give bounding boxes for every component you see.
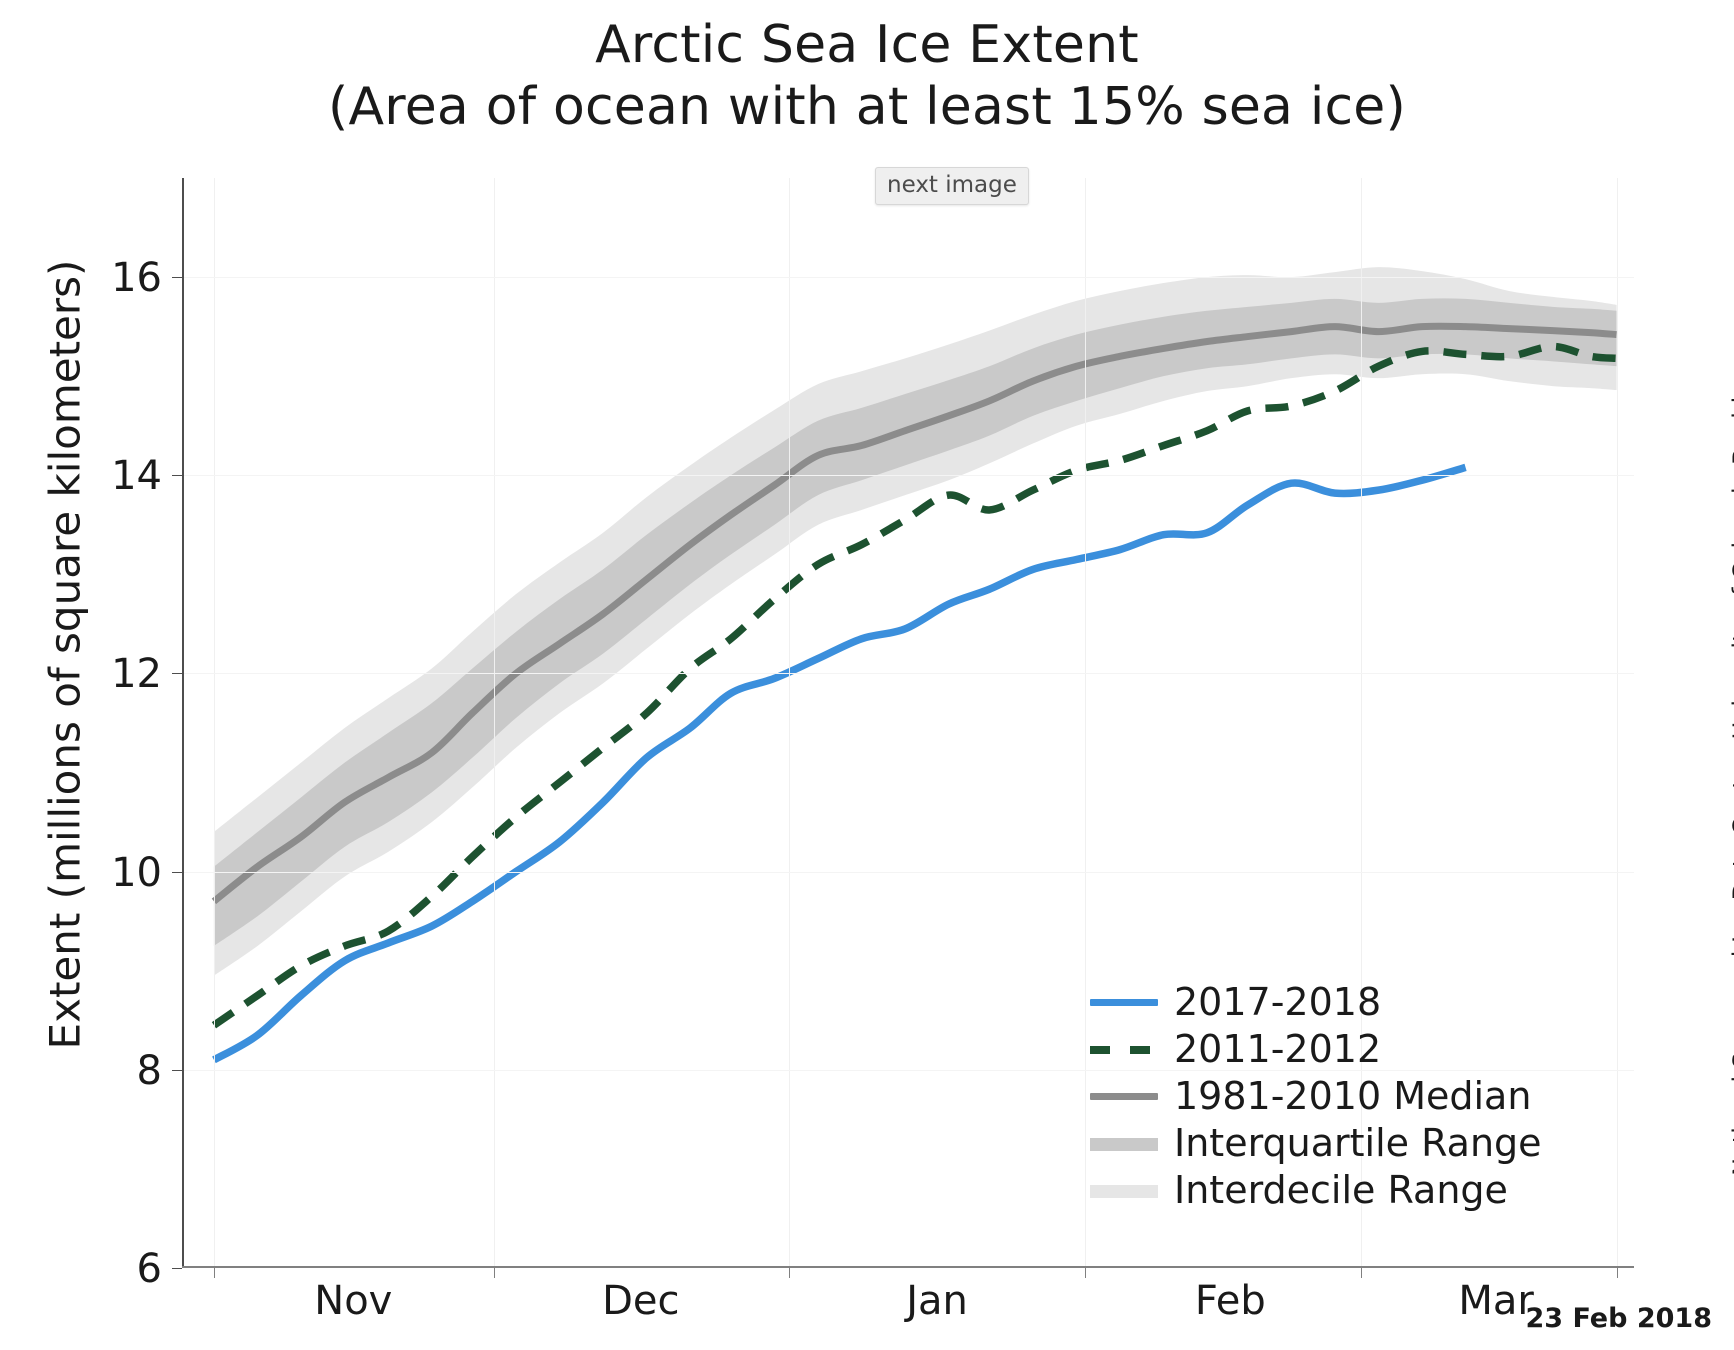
y-axis-line — [182, 178, 184, 1268]
gridline-vertical — [789, 178, 790, 1268]
x-axis-tick-label: Nov — [243, 1278, 463, 1324]
legend-swatch-icon — [1090, 1034, 1158, 1064]
legend-item[interactable]: 1981-2010 Median — [1090, 1072, 1542, 1119]
y-axis-tick-mark — [172, 1268, 182, 1269]
date-stamp: 23 Feb 2018 — [1525, 1303, 1712, 1334]
y-axis-label: Extent (millions of square kilometers) — [41, 245, 90, 1065]
legend-item[interactable]: 2017-2018 — [1090, 978, 1542, 1025]
y-axis-tick-label: 8 — [102, 1048, 162, 1094]
legend-swatch-icon — [1090, 1175, 1158, 1205]
y-axis-tick-label: 10 — [102, 850, 162, 896]
legend-swatch-icon — [1090, 1128, 1158, 1158]
legend-item-label: Interdecile Range — [1174, 1168, 1508, 1212]
y-axis-tick-mark — [172, 475, 182, 476]
legend-item-label: Interquartile Range — [1174, 1121, 1542, 1165]
x-axis-tick-mark — [494, 1268, 495, 1278]
legend-item-label: 2017-2018 — [1174, 980, 1381, 1024]
y-axis-tick-label: 16 — [102, 255, 162, 301]
gridline-vertical — [214, 178, 215, 1268]
x-axis-tick-mark — [1361, 1268, 1362, 1278]
chart-title-block: Arctic Sea Ice Extent (Area of ocean wit… — [0, 14, 1734, 138]
x-axis-tick-mark — [789, 1268, 790, 1278]
legend-item[interactable]: Interdecile Range — [1090, 1166, 1542, 1213]
chart-page: Arctic Sea Ice Extent (Area of ocean wit… — [0, 0, 1734, 1350]
gridline-vertical — [1085, 178, 1086, 1268]
legend-swatch-icon — [1090, 1081, 1158, 1111]
gridline-vertical — [1617, 178, 1618, 1268]
x-axis-tick-mark — [214, 1268, 215, 1278]
gridline-horizontal — [182, 277, 1634, 278]
y-axis-tick-label: 6 — [102, 1246, 162, 1292]
x-axis-tick-label: Dec — [531, 1278, 751, 1324]
gridline-vertical — [494, 178, 495, 1268]
legend-item-label: 1981-2010 Median — [1174, 1074, 1531, 1118]
legend-swatch-icon — [1090, 987, 1158, 1017]
gridline-horizontal — [182, 475, 1634, 476]
x-axis-tick-mark — [1085, 1268, 1086, 1278]
next-image-tooltip[interactable]: next image — [875, 167, 1029, 205]
y-axis-tick-label: 14 — [102, 453, 162, 499]
legend-item[interactable]: Interquartile Range — [1090, 1119, 1542, 1166]
x-axis-tick-label: Jan — [827, 1278, 1047, 1324]
y-axis-tick-label: 12 — [102, 651, 162, 697]
data-source-credit: National Snow and Ice Data Center, Unive… — [1728, 344, 1734, 1204]
legend-item[interactable]: 2011-2012 — [1090, 1025, 1542, 1072]
legend-item-label: 2011-2012 — [1174, 1027, 1381, 1071]
chart-subtitle: (Area of ocean with at least 15% sea ice… — [0, 76, 1734, 138]
x-axis-line — [182, 1266, 1634, 1268]
y-axis-tick-mark — [172, 277, 182, 278]
x-axis-tick-mark — [1617, 1268, 1618, 1278]
gridline-horizontal — [182, 872, 1634, 873]
gridline-horizontal — [182, 673, 1634, 674]
x-axis-tick-label: Feb — [1120, 1278, 1340, 1324]
y-axis-tick-mark — [172, 673, 182, 674]
page-title: Arctic Sea Ice Extent — [0, 14, 1734, 76]
chart-legend: 2017-20182011-20121981-2010 MedianInterq… — [1090, 978, 1542, 1213]
y-axis-tick-mark — [172, 1070, 182, 1071]
y-axis-tick-mark — [172, 872, 182, 873]
